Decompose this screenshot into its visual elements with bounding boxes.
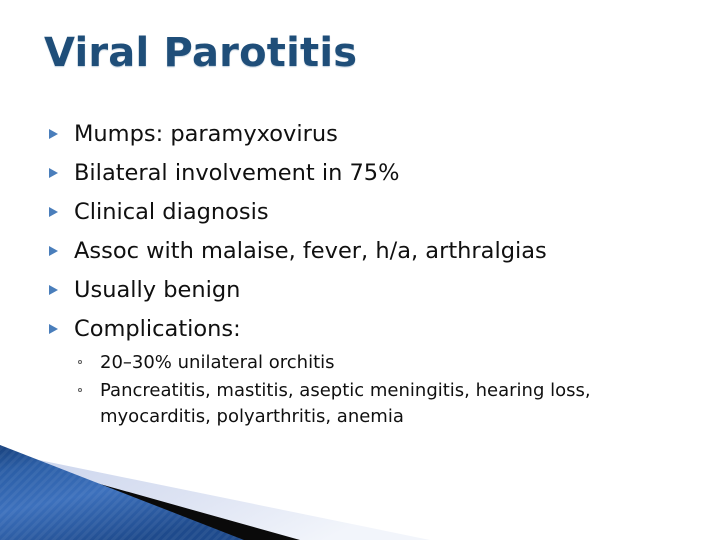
triangle-bullet-icon bbox=[49, 324, 58, 334]
circle-bullet-icon bbox=[78, 360, 82, 364]
corner-banner-svg bbox=[0, 430, 720, 540]
list-item-label: Clinical diagnosis bbox=[74, 199, 269, 225]
list-item-label: Assoc with malaise, fever, h/a, arthralg… bbox=[74, 238, 547, 264]
sub-bullet-list: 20–30% unilateral orchitis Pancreatitis,… bbox=[46, 350, 686, 430]
list-item: Complications: bbox=[46, 311, 686, 347]
list-item-label: Usually benign bbox=[74, 277, 240, 303]
list-item-label: Complications: bbox=[74, 316, 241, 342]
triangle-bullet-icon bbox=[49, 246, 58, 256]
list-item: Bilateral involvement in 75% bbox=[46, 155, 686, 191]
list-item: Mumps: paramyxovirus bbox=[46, 116, 686, 152]
list-item: Assoc with malaise, fever, h/a, arthralg… bbox=[46, 233, 686, 269]
pale-band-shape bbox=[0, 452, 430, 540]
triangle-bullet-icon bbox=[49, 129, 58, 139]
triangle-bullet-icon bbox=[49, 285, 58, 295]
page-title: Viral Parotitis bbox=[44, 30, 357, 76]
blue-triangle-shape bbox=[0, 445, 244, 540]
sub-list-item-label: Pancreatitis, mastitis, aseptic meningit… bbox=[100, 378, 678, 430]
slide: Viral Parotitis Mumps: paramyxovirus Bil… bbox=[0, 0, 720, 540]
triangle-bullet-icon bbox=[49, 168, 58, 178]
black-stripe-shape bbox=[0, 456, 300, 540]
list-item-label: Mumps: paramyxovirus bbox=[74, 121, 338, 147]
bullet-list: Mumps: paramyxovirus Bilateral involveme… bbox=[46, 116, 686, 432]
blue-triangle-texture bbox=[0, 445, 244, 540]
list-item: Clinical diagnosis bbox=[46, 194, 686, 230]
sub-list-item: 20–30% unilateral orchitis bbox=[46, 350, 686, 376]
list-item-label: Bilateral involvement in 75% bbox=[74, 160, 400, 186]
triangle-bullet-icon bbox=[49, 207, 58, 217]
list-item: Usually benign bbox=[46, 272, 686, 308]
bottom-left-corner-decoration bbox=[0, 430, 720, 540]
circle-bullet-icon bbox=[78, 388, 82, 392]
sub-list-item-label: 20–30% unilateral orchitis bbox=[100, 350, 678, 376]
sub-list-item: Pancreatitis, mastitis, aseptic meningit… bbox=[46, 378, 686, 430]
